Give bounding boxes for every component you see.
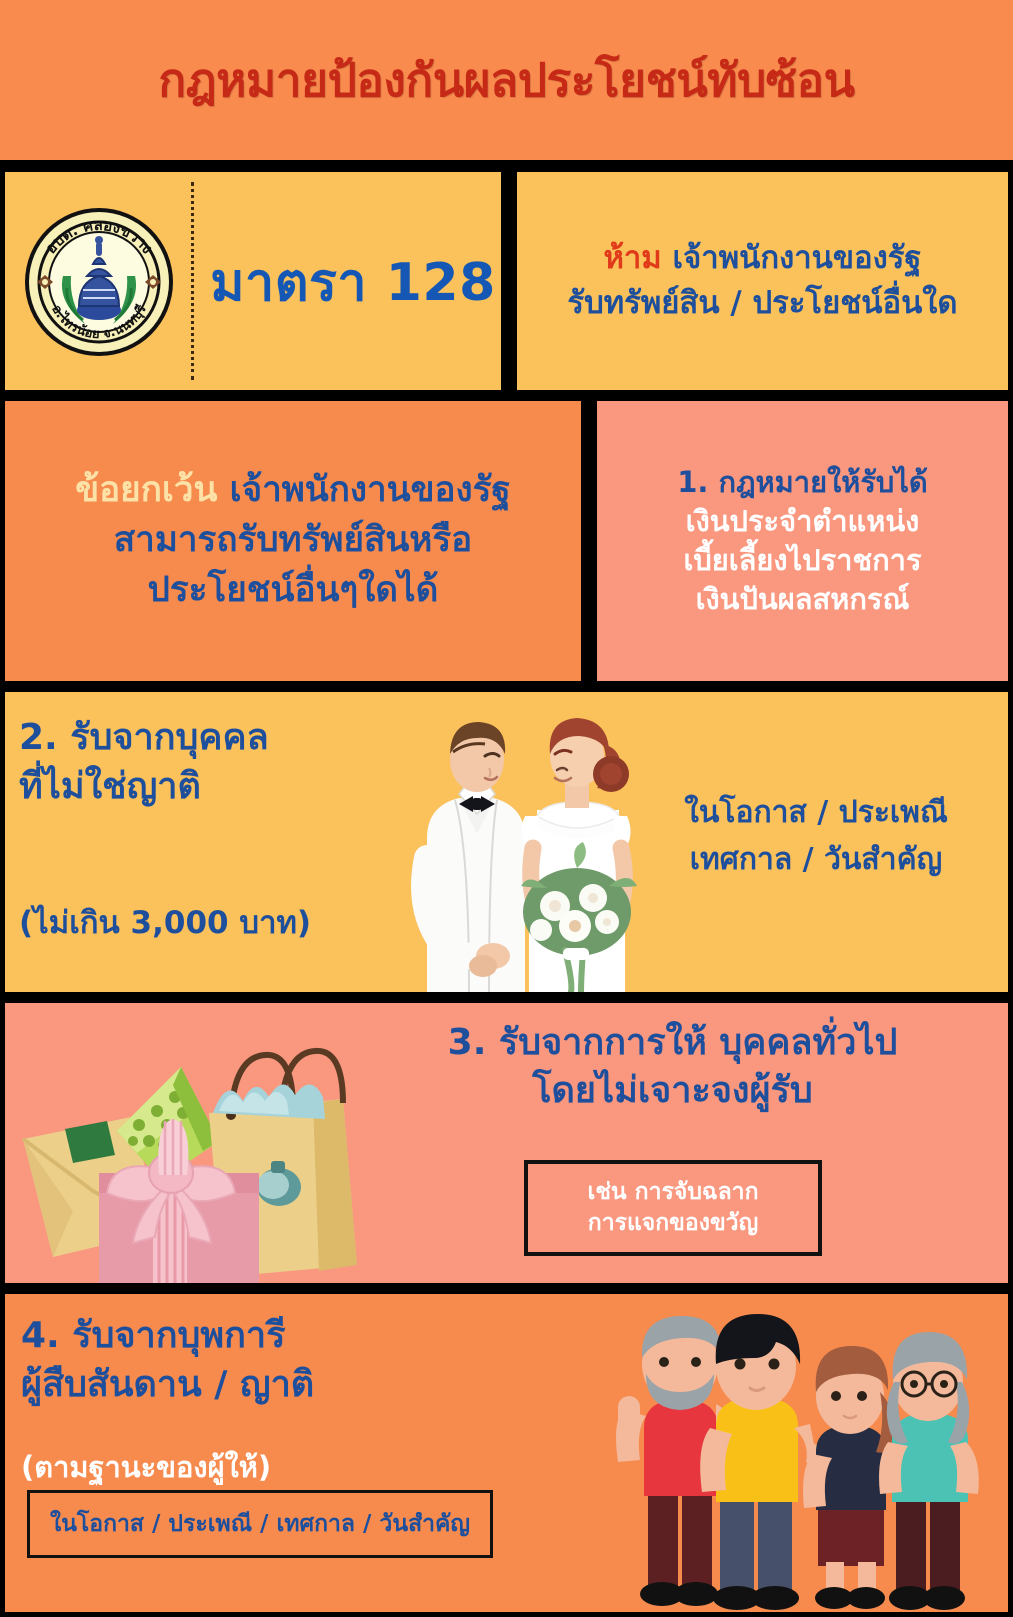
prohibition-text: ห้าม เจ้าพนักงานของรัฐ รับทรัพย์สิน / ปร… bbox=[557, 236, 967, 326]
item3-example-text: เช่น การจับฉลาก การแจกของขวัญ bbox=[587, 1177, 758, 1239]
item3-panel: 3. รับจากการให้ บุคคลทั่วไป โดยไม่เจาะจง… bbox=[5, 1003, 1008, 1283]
item4-occasion-box: ในโอกาส / ประเพณี / เทศกาล / วันสำคัญ bbox=[27, 1490, 493, 1558]
poster-header: กฎหมายป้องกันผลประโยชน์ทับซ้อน bbox=[0, 0, 1013, 160]
exception-line-1: เจ้าพนักงานของรัฐ bbox=[217, 470, 510, 510]
item4-heading: 4. รับจากบุพการี ผู้สืบสันดาน / ญาติ bbox=[21, 1312, 581, 1410]
item3-example-box: เช่น การจับฉลาก การแจกของขวัญ bbox=[524, 1160, 822, 1256]
infographic-poster: กฎหมายป้องกันผลประโยชน์ทับซ้อน bbox=[0, 0, 1013, 1617]
exception-line-3: ประโยชน์อื่นๆใดได้ bbox=[148, 570, 439, 610]
item1-line-3: เงินปันผลสหกรณ์ bbox=[696, 582, 910, 616]
gift-boxes-illustration bbox=[13, 1021, 363, 1283]
item1-line-2: เบี้ยเลี้ยงไปราชการ bbox=[683, 543, 921, 577]
item2-panel: 2. รับจากบุคคล ที่ไม่ใช่ญาติ (ไม่เกิน 3,… bbox=[5, 692, 1008, 992]
item4-panel: 4. รับจากบุพการี ผู้สืบสันดาน / ญาติ (ตา… bbox=[5, 1294, 1008, 1612]
exception-line-2: สามารถรับทรัพย์สินหรือ bbox=[114, 520, 472, 560]
article-number-panel: อบต. คลองขวาง อ.ไทรน้อย จ.นนทบุรี มาตรา … bbox=[5, 172, 501, 390]
exception-keyword: ข้อยกเว้น bbox=[75, 470, 217, 510]
organization-seal: อบต. คลองขวาง อ.ไทรน้อย จ.นนทบุรี bbox=[23, 206, 175, 358]
page-title: กฎหมายป้องกันผลประโยชน์ทับซ้อน bbox=[158, 55, 854, 106]
exception-panel: ข้อยกเว้น เจ้าพนักงานของรัฐ สามารถรับทรั… bbox=[5, 401, 581, 681]
item1-line-1: เงินประจำตำแหน่ง bbox=[686, 504, 920, 538]
item1-panel: 1. กฎหมายให้รับได้ เงินประจำตำแหน่ง เบี้… bbox=[597, 401, 1008, 681]
occasion-line-2: เทศกาล / วันสำคัญ bbox=[690, 842, 942, 877]
article-number-label: มาตรา 128 bbox=[205, 172, 501, 390]
item2-line-1: 2. รับจากบุคคล bbox=[19, 717, 269, 758]
prohibition-panel: ห้าม เจ้าพนักงานของรัฐ รับทรัพย์สิน / ปร… bbox=[517, 172, 1008, 390]
prohibit-line-1: เจ้าพนักงานของรัฐ bbox=[662, 240, 922, 276]
item1-text: 1. กฎหมายให้รับได้ เงินประจำตำแหน่ง เบี้… bbox=[671, 463, 934, 618]
item3-heading: 3. รับจากการให้ บุคคลทั่วไป โดยไม่เจาะจง… bbox=[345, 1019, 1000, 1114]
item2-heading: 2. รับจากบุคคล ที่ไม่ใช่ญาติ bbox=[19, 714, 389, 811]
prohibit-keyword: ห้าม bbox=[603, 240, 661, 276]
example-line-2: การแจกของขวัญ bbox=[588, 1210, 758, 1236]
item4-line-2: ผู้สืบสันดาน / ญาติ bbox=[21, 1364, 314, 1405]
example-line-1: เช่น การจับฉลาก bbox=[587, 1179, 758, 1205]
prohibit-line-2: รับทรัพย์สิน / ประโยชน์อื่นใด bbox=[567, 285, 957, 321]
family-group-illustration bbox=[600, 1300, 1000, 1612]
item4-occasion-text: ในโอกาส / ประเพณี / เทศกาล / วันสำคัญ bbox=[50, 1506, 470, 1542]
occasion-line-1: ในโอกาส / ประเพณี bbox=[684, 795, 948, 830]
figure-grandmother bbox=[879, 1332, 979, 1610]
item2-line-2: ที่ไม่ใช่ญาติ bbox=[19, 766, 201, 807]
exception-text: ข้อยกเว้น เจ้าพนักงานของรัฐ สามารถรับทรั… bbox=[63, 466, 523, 615]
dotted-divider bbox=[191, 182, 194, 380]
item3-line-2: โดยไม่เจาะจงผู้รับ bbox=[532, 1070, 813, 1111]
item2-amount-note: (ไม่เกิน 3,000 บาท) bbox=[19, 897, 409, 947]
item3-line-1: 3. รับจากการให้ บุคคลทั่วไป bbox=[448, 1022, 898, 1063]
item2-occasion-text: ในโอกาส / ประเพณี เทศกาล / วันสำคัญ bbox=[646, 790, 986, 883]
wedding-couple-illustration bbox=[397, 698, 657, 992]
item4-line-1: 4. รับจากบุพการี bbox=[21, 1315, 285, 1356]
item1-heading: 1. กฎหมายให้รับได้ bbox=[677, 463, 928, 502]
item4-subnote: (ตามฐานะของผู้ให้) bbox=[21, 1444, 541, 1490]
